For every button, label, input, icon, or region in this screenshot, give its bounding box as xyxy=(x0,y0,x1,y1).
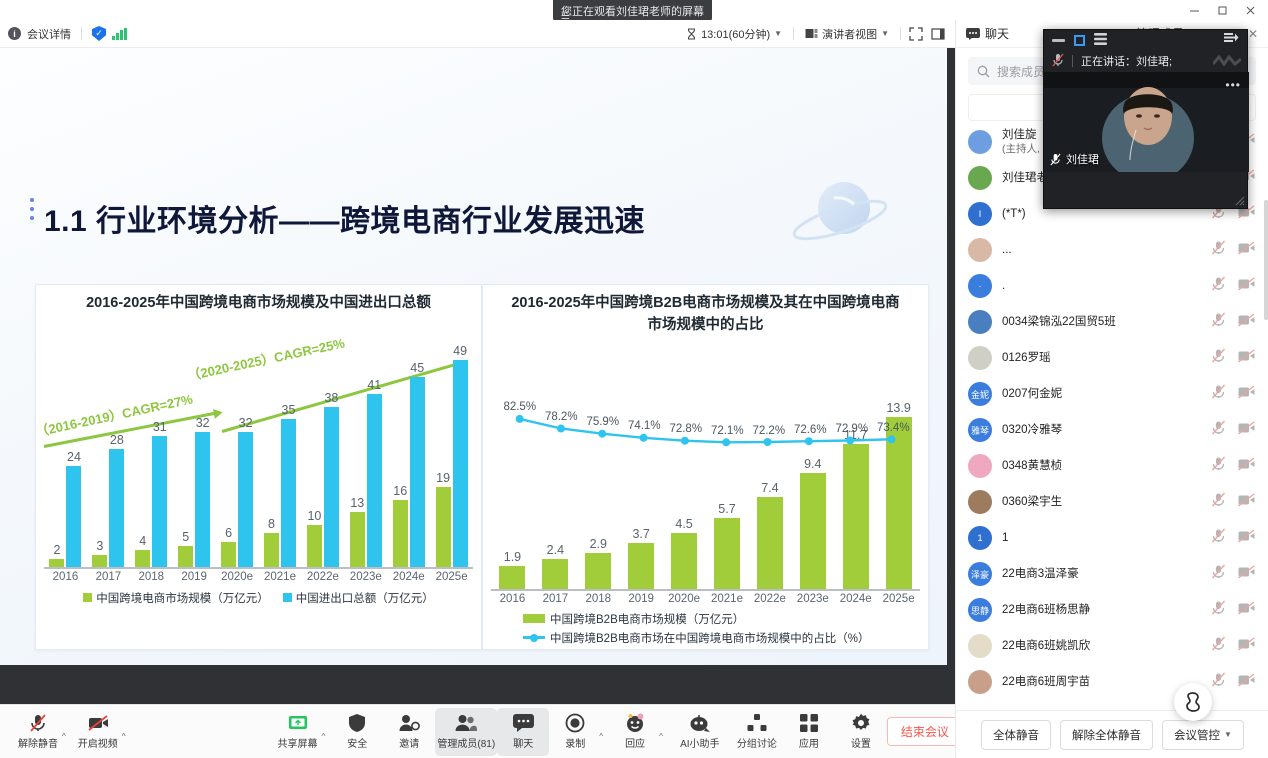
legend-label: 中国跨境B2B电商市场规模（万亿元） xyxy=(550,611,744,627)
participant-name: 22电商6班周宇苗 xyxy=(1002,675,1201,689)
ai-assistant-floating-button[interactable] xyxy=(1174,683,1212,721)
avatar xyxy=(968,490,992,514)
toolbar-button-label: 邀请 xyxy=(399,735,419,750)
mic-muted-icon xyxy=(1050,153,1061,166)
participant-status-icons xyxy=(1211,312,1255,332)
camera-off-icon xyxy=(87,713,109,733)
share-screen-icon xyxy=(288,713,308,733)
camera-off-icon[interactable] xyxy=(1238,601,1255,620)
bar-trade-total: 49 xyxy=(453,360,468,567)
layout-icon[interactable] xyxy=(927,23,949,45)
participant-row[interactable]: 0034梁锦泓22国贸5班 xyxy=(956,304,1268,340)
speaking-label: 正在讲话：刘佳珺; xyxy=(1081,53,1172,69)
toolbar-left-group: 解除静音^开启视频^ xyxy=(0,708,132,756)
bar-trade-total: 28 xyxy=(109,449,124,567)
participant-row[interactable]: 金妮0207何金妮 xyxy=(956,376,1268,412)
list-view-icon[interactable] xyxy=(1094,33,1107,48)
chat-bubble-icon xyxy=(513,713,534,733)
legend-item-market-size: 中国跨境电商市场规模（万亿元） xyxy=(83,590,269,606)
manage-members-icon xyxy=(455,713,477,733)
x-tick-label: 2022e xyxy=(301,571,344,583)
participant-status-icons xyxy=(1211,456,1255,476)
bar-value-label: 4.5 xyxy=(675,517,692,531)
host-controls-button[interactable]: 会议管控 ▼ xyxy=(1162,720,1244,750)
participant-name: 22电商6班姚凯欣 xyxy=(1002,639,1201,653)
chart-left-axis xyxy=(44,567,473,569)
bar-group: 1645 xyxy=(387,345,430,568)
window-controls xyxy=(1180,2,1264,18)
banner-menu-icon[interactable]: ☰ xyxy=(561,0,704,22)
participants-panel-footer: 全体静音 解除全体静音 会议管控 ▼ xyxy=(956,710,1268,758)
participant-row[interactable]: 22电商6班姚凯欣 xyxy=(956,628,1268,664)
search-icon xyxy=(977,65,990,78)
mic-muted-icon[interactable] xyxy=(1211,600,1226,620)
bar-b2b-size: 7.4 xyxy=(757,497,783,589)
x-tick-label: 2025e xyxy=(430,571,473,583)
participant-row[interactable]: 0360梁宇生 xyxy=(956,484,1268,520)
video-window-titlebar xyxy=(1044,30,1247,50)
meeting-toolbar: 解除静音^开启视频^ 共享屏幕^安全邀请管理成员(81)聊天录制^回应^AI小助… xyxy=(0,704,955,758)
mic-muted-icon[interactable] xyxy=(1211,240,1226,260)
camera-off-icon[interactable] xyxy=(1238,565,1255,584)
bar-group: 7.4 xyxy=(748,393,791,590)
settings-gear-icon xyxy=(851,713,871,733)
bar-market-size: 2 xyxy=(49,559,64,567)
line-point-label: 82.5% xyxy=(503,401,536,413)
bar-value-label: 31 xyxy=(153,420,167,434)
participant-name: 0126罗瑶 xyxy=(1002,351,1201,365)
chevron-down-icon[interactable]: ▼ xyxy=(881,29,889,38)
toolbar-button-breakout-rooms[interactable]: 分组讨论 xyxy=(731,708,783,756)
bar-market-size: 6 xyxy=(221,542,236,567)
chevron-down-icon: ▼ xyxy=(1224,730,1232,739)
toolbar-button-label: 设置 xyxy=(851,735,871,750)
apps-grid-icon xyxy=(799,713,819,733)
info-icon[interactable]: i xyxy=(8,27,21,40)
participant-row[interactable]: 思静22电商6班杨思静 xyxy=(956,592,1268,628)
bar-value-label: 8 xyxy=(268,517,275,531)
bar-trade-total: 32 xyxy=(238,432,253,567)
bar-market-size: 13 xyxy=(350,512,365,567)
mic-muted-icon[interactable] xyxy=(1211,636,1226,656)
participant-name: . xyxy=(1002,279,1201,293)
participant-status-icons xyxy=(1211,384,1255,404)
bar-group: 224 xyxy=(44,345,87,568)
meeting-header: i 会议详情 ✓ 13:01(60分钟) ▼ 演讲者视图 ▼ xyxy=(0,20,955,48)
bar-trade-total: 41 xyxy=(367,394,382,567)
x-tick-label: 2025e xyxy=(877,593,920,605)
bar-group: 532 xyxy=(173,345,216,568)
participant-row[interactable]: 泽豪22电商3温泽豪 xyxy=(956,556,1268,592)
mute-all-button[interactable]: 全体静音 xyxy=(981,720,1051,750)
line-point-label: 73.4% xyxy=(877,422,910,434)
line-point-label: 74.1% xyxy=(628,420,661,432)
camera-off-icon[interactable] xyxy=(1238,529,1255,548)
bar-b2b-size: 2.9 xyxy=(585,553,611,589)
legend-line-blue-icon xyxy=(523,636,545,639)
bar-market-size: 16 xyxy=(393,500,408,568)
participant-name: 0360梁宇生 xyxy=(1002,495,1201,509)
tab-chat[interactable]: 聊天 xyxy=(966,25,1009,42)
divider xyxy=(793,27,794,40)
avatar: · xyxy=(968,274,992,298)
bar-value-label: 38 xyxy=(324,391,338,405)
line-point-label: 72.1% xyxy=(711,425,744,437)
speaking-status-bar: 正在讲话：刘佳珺; xyxy=(1044,50,1247,72)
meeting-timer-text: 13:01(60分钟) xyxy=(701,26,770,42)
participant-row[interactable]: ... xyxy=(956,232,1268,268)
avatar: 金妮 xyxy=(968,382,992,406)
bar-value-label: 28 xyxy=(110,433,124,447)
floating-video-window[interactable]: 正在讲话：刘佳珺; ••• 刘佳珺 xyxy=(1043,29,1248,209)
meeting-details-label[interactable]: 会议详情 xyxy=(27,26,71,42)
window-maximize-button[interactable] xyxy=(1208,2,1236,18)
x-tick-label: 2023e xyxy=(791,593,834,605)
speaker-view-icon xyxy=(805,28,818,40)
participant-status-icons xyxy=(1211,564,1255,584)
chart-right-x-axis-labels: 20162017201820192020e2021e2022e2023e2024… xyxy=(483,591,928,605)
toolbar-button-record[interactable]: 录制 xyxy=(549,708,601,756)
more-options-icon[interactable]: ••• xyxy=(1225,78,1241,92)
mic-muted-icon[interactable] xyxy=(1211,348,1226,368)
bar-group: 1038 xyxy=(301,345,344,568)
avatar xyxy=(968,238,992,262)
toolbar-button-share-screen[interactable]: 共享屏幕 xyxy=(272,708,324,756)
line-point-label: 72.9% xyxy=(835,423,868,435)
line-point-label: 72.2% xyxy=(752,425,785,437)
x-tick-label: 2021e xyxy=(706,593,749,605)
bar-value-label: 19 xyxy=(436,471,450,485)
bar-value-label: 41 xyxy=(367,378,381,392)
toolbar-button-label: AI小助手 xyxy=(680,735,719,750)
toolbar-button-label: 回应 xyxy=(625,735,645,750)
resize-handle[interactable] xyxy=(1235,196,1245,206)
bar-b2b-size: 13.9 xyxy=(886,417,912,589)
tab-chat-label: 聊天 xyxy=(985,25,1009,42)
x-tick-label: 2017 xyxy=(87,571,130,583)
bar-group: 431 xyxy=(130,345,173,568)
divider xyxy=(1072,55,1073,67)
avatar xyxy=(968,346,992,370)
legend-label: 中国跨境B2B电商市场在中国跨境电商市场规模中的占比（%） xyxy=(550,630,869,646)
bar-b2b-size: 2.4 xyxy=(542,559,568,589)
bar-value-label: 13.9 xyxy=(886,401,910,415)
toolbar-button-security-shield[interactable]: 安全 xyxy=(331,708,383,756)
participant-status-icons xyxy=(1211,672,1255,692)
mic-muted-icon[interactable] xyxy=(1211,420,1226,440)
participants-list[interactable]: 刘佳旋(主持人, 我)刘佳珺老师I(*T*)...·.0034梁锦泓22国贸5班… xyxy=(956,124,1268,716)
camera-off-icon[interactable] xyxy=(1238,349,1255,368)
camera-off-icon[interactable] xyxy=(1238,673,1255,692)
x-tick-label: 2019 xyxy=(173,571,216,583)
bar-group: 1949 xyxy=(430,345,473,568)
bar-value-label: 32 xyxy=(196,416,210,430)
search-placeholder: 搜索成员 xyxy=(997,63,1045,80)
participant-name: ... xyxy=(1002,243,1201,257)
window-close-button[interactable] xyxy=(1236,2,1264,18)
line-point-label: 78.2% xyxy=(545,411,578,423)
mic-muted-icon[interactable] xyxy=(1211,564,1226,584)
bar-b2b-size: 11.7 xyxy=(843,444,869,589)
mic-muted-icon xyxy=(1052,53,1064,70)
bar-value-label: 13 xyxy=(350,496,364,510)
participant-name: 22电商6班杨思静 xyxy=(1002,603,1201,617)
camera-off-icon[interactable] xyxy=(1238,277,1255,296)
participant-status-icons xyxy=(1211,600,1255,620)
window-title-bar: 您正在观看刘佳珺老师的屏幕 ☰ xyxy=(0,0,1268,20)
bar-group: 11.7 xyxy=(834,393,877,590)
expand-panel-icon[interactable] xyxy=(1224,31,1239,49)
toolbar-button-apps-grid[interactable]: 应用 xyxy=(783,708,835,756)
avatar xyxy=(968,454,992,478)
bar-market-size: 19 xyxy=(436,487,451,567)
bar-market-size: 3 xyxy=(92,555,107,568)
bar-value-label: 3 xyxy=(96,539,103,553)
mic-muted-icon[interactable] xyxy=(1211,456,1226,476)
bar-trade-total: 32 xyxy=(195,432,210,567)
avatar: I xyxy=(968,202,992,226)
chart-left-legend: 中国跨境电商市场规模（万亿元） 中国进出口总额（万亿元） xyxy=(36,583,481,606)
waveform-icon xyxy=(1213,54,1241,70)
mic-muted-icon[interactable] xyxy=(1211,672,1226,692)
toolbar-button-invite-person[interactable]: 邀请 xyxy=(383,708,435,756)
bar-value-label: 7.4 xyxy=(761,481,778,495)
participant-row[interactable]: 0348黄慧桢 xyxy=(956,448,1268,484)
chevron-down-icon[interactable]: ▼ xyxy=(774,29,782,38)
participant-status-icons xyxy=(1211,348,1255,368)
chart-left-plot: 2243284315326328351038134116451949 xyxy=(36,345,481,569)
participant-status-icons xyxy=(1211,240,1255,260)
view-mode-selector[interactable]: 演讲者视图 ▼ xyxy=(798,26,896,42)
bar-trade-total: 24 xyxy=(66,466,81,567)
legend-label: 中国跨境电商市场规模（万亿元） xyxy=(96,590,269,606)
camera-off-icon[interactable] xyxy=(1238,313,1255,332)
bar-group: 835 xyxy=(259,345,302,568)
bar-value-label: 2.9 xyxy=(590,537,607,551)
toolbar-button-ai-assistant[interactable]: AI小助手 xyxy=(669,708,731,756)
bar-value-label: 1.9 xyxy=(504,550,521,564)
maximize-icon[interactable] xyxy=(1074,35,1085,46)
fullscreen-icon[interactable] xyxy=(905,23,927,45)
mic-muted-icon[interactable] xyxy=(1211,528,1226,548)
x-tick-label: 2020e xyxy=(663,593,706,605)
camera-off-icon[interactable] xyxy=(1238,421,1255,440)
breakout-rooms-icon xyxy=(747,713,767,733)
x-tick-label: 2016 xyxy=(491,593,534,605)
participant-name: 0348黄慧桢 xyxy=(1002,459,1201,473)
participant-row[interactable]: 22电商6班周宇苗 xyxy=(956,664,1268,700)
bar-value-label: 5.7 xyxy=(718,502,735,516)
mic-muted-icon[interactable] xyxy=(1211,276,1226,296)
chart-right-title: 2016-2025年中国跨境B2B电商市场规模及其在中国跨境电商市场规模中的占比 xyxy=(483,285,928,337)
reaction-icon xyxy=(625,713,646,733)
meeting-header-left: i 会议详情 ✓ xyxy=(0,26,127,42)
toolbar-button-settings-gear[interactable]: 设置 xyxy=(835,708,887,756)
toolbar-button-label: 解除静音 xyxy=(18,735,58,750)
legend-swatch-green-icon xyxy=(523,614,545,623)
x-tick-label: 2020e xyxy=(216,571,259,583)
avatar: 泽豪 xyxy=(968,562,992,586)
bar-group: 328 xyxy=(87,345,130,568)
x-tick-label: 2024e xyxy=(387,571,430,583)
end-meeting-button[interactable]: 结束会议 xyxy=(887,717,963,746)
bar-market-size: 10 xyxy=(307,525,322,567)
participant-row[interactable]: 雅琴0320冷雅琴 xyxy=(956,412,1268,448)
meeting-timer[interactable]: 13:01(60分钟) ▼ xyxy=(679,26,789,42)
bar-market-size: 5 xyxy=(178,546,193,567)
bar-trade-total: 38 xyxy=(324,407,339,568)
legend-label: 中国进出口总额（万亿元） xyxy=(296,590,434,606)
participant-name: 0207何金妮 xyxy=(1002,387,1201,401)
bar-value-label: 24 xyxy=(67,450,81,464)
bar-trade-total: 35 xyxy=(281,419,296,567)
avatar: 雅琴 xyxy=(968,418,992,442)
chart-card-right: 2016-2025年中国跨境B2B电商市场规模及其在中国跨境电商市场规模中的占比… xyxy=(482,284,929,650)
legend-item-b2b-size: 中国跨境B2B电商市场规模（万亿元） xyxy=(523,611,928,627)
line-point-label: 75.9% xyxy=(586,416,619,428)
bar-group: 632 xyxy=(216,345,259,568)
bar-b2b-size: 1.9 xyxy=(499,566,525,590)
toolbar-button-manage-members[interactable]: 管理成员(81) xyxy=(435,708,497,756)
line-point-label: 72.6% xyxy=(794,424,827,436)
x-tick-label: 2016 xyxy=(44,571,87,583)
presentation-slide: 1.1 行业环境分析——跨境电商行业发展迅速 2016-2025年中国跨境电商市… xyxy=(0,48,947,665)
legend-swatch-blue-icon xyxy=(283,593,292,602)
bar-value-label: 2.4 xyxy=(547,543,564,557)
toolbar-button-camera-off[interactable]: 开启视频 xyxy=(72,708,124,756)
chat-bubble-icon xyxy=(966,28,980,40)
toolbar-button-label: 聊天 xyxy=(513,735,533,750)
mic-muted-icon[interactable] xyxy=(1211,492,1226,512)
participant-status-icons xyxy=(1211,492,1255,512)
hourglass-icon xyxy=(686,28,697,40)
participant-row[interactable]: ·. xyxy=(956,268,1268,304)
chart-right-legend: 中国跨境B2B电商市场规模（万亿元） 中国跨境B2B电商市场在中国跨境电商市场规… xyxy=(483,605,928,646)
x-tick-label: 2024e xyxy=(834,593,877,605)
window-minimize-button[interactable] xyxy=(1180,2,1208,18)
camera-off-icon[interactable] xyxy=(1238,241,1255,260)
toolbar-button-label: 管理成员(81) xyxy=(437,735,495,750)
bar-value-label: 45 xyxy=(410,361,424,375)
panel-close-icon[interactable]: ✕ xyxy=(1248,27,1258,41)
bar-value-label: 2 xyxy=(53,543,60,557)
security-shield-icon xyxy=(348,713,366,733)
participants-scrollbar[interactable] xyxy=(1264,200,1268,320)
host-controls-label: 会议管控 xyxy=(1174,727,1220,743)
participant-status-icons xyxy=(1211,276,1255,296)
bar-value-label: 6 xyxy=(225,526,232,540)
toolbar-button-label: 应用 xyxy=(799,735,819,750)
bar-group: 1341 xyxy=(344,345,387,568)
bar-b2b-size: 5.7 xyxy=(714,518,740,589)
bar-value-label: 10 xyxy=(307,509,321,523)
bar-value-label: 5 xyxy=(182,530,189,544)
line-point-label: 72.8% xyxy=(669,423,702,435)
participant-name: 0034梁锦泓22国贸5班 xyxy=(1002,315,1201,329)
divider xyxy=(900,27,901,40)
chart-right-axis xyxy=(491,589,920,591)
participant-row[interactable]: 11 xyxy=(956,520,1268,556)
toolbar-center-group: 共享屏幕^安全邀请管理成员(81)聊天录制^回应^AI小助手分组讨论应用设置 xyxy=(272,708,887,756)
toolbar-button-label: 分组讨论 xyxy=(737,735,777,750)
x-tick-label: 2019 xyxy=(620,593,663,605)
camera-off-icon[interactable] xyxy=(1238,457,1255,476)
bar-trade-total: 31 xyxy=(152,436,167,567)
x-tick-label: 2018 xyxy=(130,571,173,583)
shield-icon[interactable]: ✓ xyxy=(92,26,106,41)
x-tick-label: 2017 xyxy=(534,593,577,605)
legend-swatch-green-icon xyxy=(83,593,92,602)
avatar xyxy=(968,670,992,694)
participant-status-icons xyxy=(1211,636,1255,656)
camera-off-icon[interactable] xyxy=(1238,493,1255,512)
ai-assistant-icon xyxy=(689,713,711,733)
bar-market-size: 4 xyxy=(135,550,150,567)
chart-left-bars: 2243284315326328351038134116451949 xyxy=(44,345,473,568)
bar-b2b-size: 3.7 xyxy=(628,543,654,589)
toolbar-button-label: 开启视频 xyxy=(78,735,118,750)
video-name-label: 刘佳珺 xyxy=(1066,151,1099,167)
participant-row[interactable]: 0126罗瑶 xyxy=(956,340,1268,376)
bar-value-label: 9.4 xyxy=(804,457,821,471)
avatar xyxy=(968,166,992,190)
toolbar-button-label: 安全 xyxy=(347,735,367,750)
slide-title: 1.1 行业环境分析——跨境电商行业发展迅速 xyxy=(44,196,645,240)
bar-group: 9.4 xyxy=(791,393,834,590)
avatar xyxy=(968,310,992,334)
participant-status-icons xyxy=(1211,420,1255,440)
video-feed[interactable]: ••• 刘佳珺 xyxy=(1044,72,1249,172)
divider xyxy=(81,27,82,40)
slide-bullet-dots xyxy=(30,198,34,225)
x-tick-label: 2018 xyxy=(577,593,620,605)
x-tick-label: 2021e xyxy=(259,571,302,583)
avatar: 思静 xyxy=(968,598,992,622)
bar-group: 5.7 xyxy=(706,393,749,590)
unmute-all-button[interactable]: 解除全体静音 xyxy=(1060,720,1153,750)
toolbar-button-chat-bubble[interactable]: 聊天 xyxy=(497,708,549,756)
bar-value-label: 16 xyxy=(393,484,407,498)
bar-group: 4.5 xyxy=(663,393,706,590)
camera-off-icon[interactable] xyxy=(1238,637,1255,656)
decorative-globe-graphic xyxy=(782,176,902,254)
signal-icon[interactable] xyxy=(112,28,127,40)
chart-card-left: 2016-2025年中国跨境电商市场规模及中国进出口总额 （2016-2019）… xyxy=(35,284,482,650)
bar-group: 1.9 xyxy=(491,393,534,590)
minimize-icon[interactable] xyxy=(1052,35,1065,46)
bar-trade-total: 45 xyxy=(410,377,425,567)
toolbar-button-reaction[interactable]: 回应 xyxy=(609,708,661,756)
invite-person-icon xyxy=(399,713,420,733)
avatar xyxy=(968,634,992,658)
record-icon xyxy=(565,713,585,733)
meeting-header-right: 13:01(60分钟) ▼ 演讲者视图 ▼ xyxy=(679,23,955,45)
participant-name: 22电商3温泽豪 xyxy=(1002,567,1201,581)
bar-value-label: 49 xyxy=(453,344,467,358)
mic-muted-icon[interactable] xyxy=(1211,312,1226,332)
mic-muted-icon xyxy=(28,713,48,733)
chart-left-x-axis-labels: 20162017201820192020e2021e2022e2023e2024… xyxy=(36,569,481,583)
toolbar-button-label: 录制 xyxy=(565,735,585,750)
bar-b2b-size: 4.5 xyxy=(671,533,697,589)
camera-off-icon[interactable] xyxy=(1238,385,1255,404)
legend-item-trade-total: 中国进出口总额（万亿元） xyxy=(283,590,434,606)
toolbar-button-mic-muted[interactable]: 解除静音 xyxy=(12,708,64,756)
avatar: 1 xyxy=(968,526,992,550)
mic-muted-icon[interactable] xyxy=(1211,384,1226,404)
legend-item-b2b-share: 中国跨境B2B电商市场在中国跨境电商市场规模中的占比（%） xyxy=(523,630,928,646)
bar-value-label: 3.7 xyxy=(632,527,649,541)
